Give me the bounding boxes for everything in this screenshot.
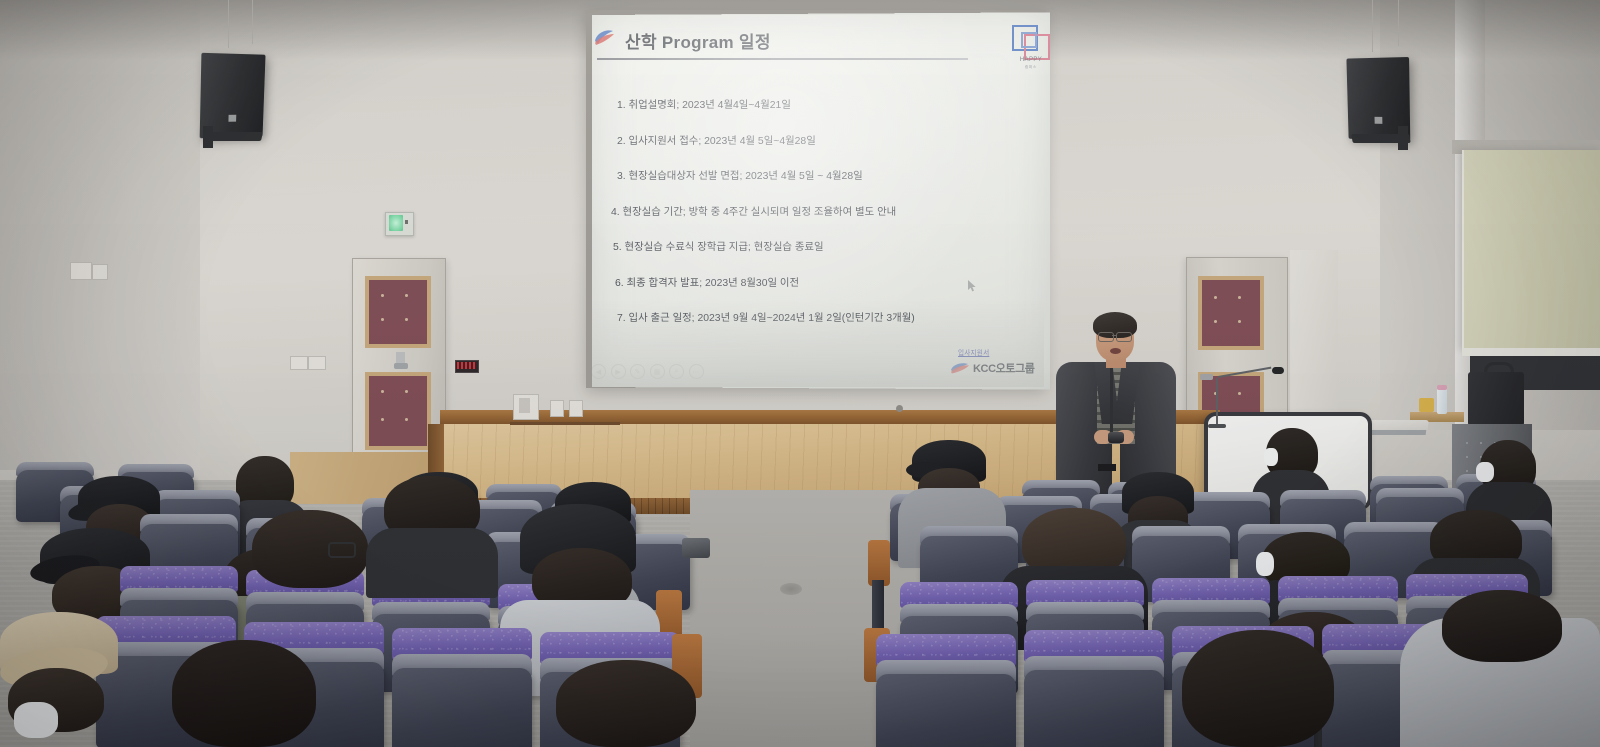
mouse-pointer-icon bbox=[968, 280, 978, 292]
audience-body bbox=[366, 528, 498, 598]
gooseneck-microphone bbox=[1272, 367, 1284, 374]
audience-glasses-icon bbox=[328, 542, 356, 558]
kcc-brand: KCC오토그룹 bbox=[950, 360, 1035, 376]
kcc-swoosh-icon bbox=[950, 362, 970, 375]
exit-sign-glow-icon bbox=[389, 215, 403, 231]
roller-blind-bar bbox=[1462, 348, 1600, 356]
swoosh-logo-icon bbox=[593, 28, 615, 48]
zoom-icon[interactable]: ⌕ bbox=[669, 364, 684, 379]
exit-sign-button bbox=[405, 220, 408, 224]
audience-head bbox=[1182, 630, 1334, 747]
kcc-brand-text: KCC오토그룹 bbox=[973, 360, 1035, 376]
floor-drain bbox=[780, 583, 802, 595]
face-mask bbox=[14, 702, 58, 738]
wall-outlet-b bbox=[308, 356, 326, 370]
yellow-box-item bbox=[1419, 398, 1434, 412]
next-slide-icon[interactable]: ▶ bbox=[611, 364, 626, 379]
speaker-wire-right bbox=[1372, 0, 1373, 52]
microphone-base bbox=[1208, 424, 1226, 428]
presentation-toolbar[interactable]: ◀ ▶ ✎ ▦ ⌕ ⋯ bbox=[591, 364, 704, 379]
slide-list-item: 3. 현장실습대상자 선발 면접; 2023년 4월 5일 ~ 4월28일 bbox=[617, 167, 1034, 182]
face-mask bbox=[1476, 462, 1494, 482]
more-options-icon[interactable]: ⋯ bbox=[689, 364, 704, 379]
stage-outlet-1 bbox=[550, 400, 564, 417]
right-door-handle[interactable] bbox=[1200, 374, 1213, 380]
speaker-logo-icon bbox=[1375, 117, 1383, 124]
speaker-wire-right-2 bbox=[1398, 0, 1399, 46]
happy-logo-icon: HAPPY 캠퍼스 bbox=[1010, 24, 1052, 72]
auditorium-photo: 산학 Program 일정 HAPPY 캠퍼스 1. 취업설명회; 2023년 … bbox=[0, 0, 1600, 747]
wall-switch-plate-2 bbox=[92, 264, 108, 280]
speaker-logo-icon bbox=[228, 115, 236, 122]
glasses-icon-right bbox=[1116, 332, 1132, 342]
slide-list-item: 4. 현장실습 기간; 방학 중 4주간 실시되며 일정 조율하여 별도 안내 bbox=[611, 203, 1034, 218]
led-status-text bbox=[457, 362, 475, 369]
right-door-upper-panel bbox=[1198, 276, 1264, 350]
speaker-mount-left bbox=[203, 126, 213, 148]
stage-wall-plate-inner bbox=[519, 398, 530, 413]
pen-tool-icon[interactable]: ✎ bbox=[630, 364, 645, 379]
presenter-mouth bbox=[1110, 348, 1121, 354]
stage-center-marker bbox=[896, 405, 903, 412]
bottle-cap bbox=[1437, 385, 1447, 390]
speaker-mount-right bbox=[1398, 126, 1408, 150]
audience-head bbox=[556, 660, 696, 747]
happy-logo-subtext: 캠퍼스 bbox=[1010, 64, 1052, 69]
stage-outlet-2 bbox=[569, 400, 583, 417]
laptop-bag bbox=[1468, 372, 1524, 426]
presenter-belt bbox=[1098, 464, 1116, 471]
audience-head bbox=[172, 640, 316, 747]
left-door-lower-panel bbox=[365, 372, 431, 450]
left-door-handle[interactable] bbox=[394, 363, 408, 369]
presentation-clicker bbox=[1108, 432, 1124, 443]
roller-blind bbox=[1462, 150, 1600, 350]
audience-head bbox=[1442, 590, 1562, 662]
face-mask bbox=[1256, 552, 1274, 576]
left-door-upper-panel bbox=[365, 276, 431, 348]
water-bottle bbox=[1437, 388, 1447, 414]
microphone-stand bbox=[1216, 378, 1218, 426]
happy-logo-text: HAPPY bbox=[1010, 57, 1052, 63]
slide-list-item: 5. 현장실습 수료식 장학급 지급; 현장실습 종료일 bbox=[613, 238, 1034, 253]
wall-outlet-a bbox=[290, 356, 308, 370]
speaker-wire-left-2 bbox=[252, 0, 253, 44]
speaker-bracket-left bbox=[205, 132, 263, 141]
stage-slot-vent bbox=[510, 422, 620, 425]
all-slides-icon[interactable]: ▦ bbox=[650, 364, 665, 379]
face-mask bbox=[1264, 448, 1278, 466]
wall-switch-plate bbox=[70, 262, 92, 280]
left-wall bbox=[0, 0, 200, 470]
slide-title: 산학 Program 일정 bbox=[625, 28, 771, 53]
speaker-wire-left bbox=[228, 0, 229, 48]
slide-list-item: 7. 입사 출근 일정; 2023년 9월 4일~2024년 1월 2일(인턴기… bbox=[617, 309, 1034, 324]
glasses-bridge bbox=[1112, 335, 1116, 336]
title-underline bbox=[597, 58, 968, 60]
previous-slide-icon[interactable]: ◀ bbox=[591, 364, 606, 379]
slide-list-item: 2. 입사지원서 접수; 2023년 4월 5일~4월28일 bbox=[617, 132, 1034, 147]
glasses-icon bbox=[1098, 332, 1114, 342]
slide-footer-link[interactable]: 입사지원서 bbox=[958, 347, 989, 357]
slide-body-list: 1. 취업설명회; 2023년 4월4일~4월21일 2. 입사지원서 접수; … bbox=[604, 96, 1034, 345]
presenter-lanyard bbox=[1110, 368, 1113, 434]
smartphone bbox=[682, 538, 710, 558]
slide-list-item: 1. 취업설명회; 2023년 4월4일~4월21일 bbox=[617, 96, 1034, 111]
